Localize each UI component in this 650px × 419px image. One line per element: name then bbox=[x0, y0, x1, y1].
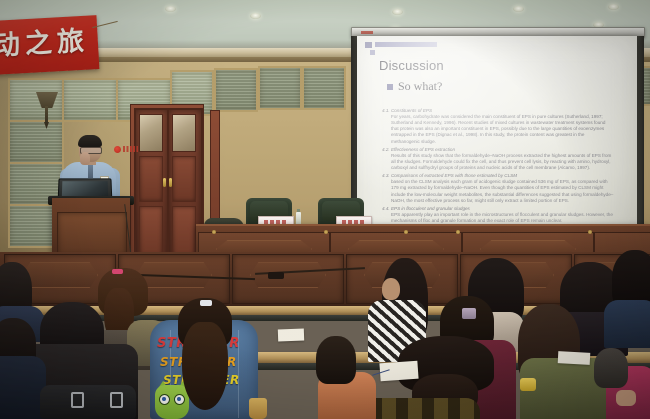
slide-decoration-bar bbox=[375, 42, 437, 47]
screen-edge-right bbox=[637, 36, 644, 241]
cat-eye-icon bbox=[174, 394, 185, 405]
audience-hand bbox=[616, 390, 636, 406]
wall-panel bbox=[62, 78, 118, 122]
hair-tie bbox=[200, 300, 212, 306]
slide-body: 4.1. Constituents of EPS For years, carb… bbox=[382, 106, 614, 224]
slide-decoration-square bbox=[365, 42, 372, 48]
audience-body bbox=[604, 300, 650, 348]
wall-logo bbox=[114, 145, 138, 154]
hair-clip bbox=[462, 308, 476, 319]
audience-hair bbox=[594, 348, 628, 388]
speaker-collar bbox=[88, 164, 93, 178]
table-stud bbox=[588, 230, 592, 234]
door-handle-icon[interactable] bbox=[163, 178, 166, 187]
table-stud bbox=[212, 230, 216, 234]
slide-bullet-text: So what? bbox=[398, 79, 442, 94]
door-panel bbox=[172, 206, 196, 256]
speaker-hand bbox=[80, 152, 90, 165]
downlight-icon bbox=[392, 9, 403, 15]
podium-front-panel bbox=[57, 212, 127, 256]
table-stud bbox=[324, 230, 328, 234]
wainscot-ornament bbox=[22, 262, 98, 288]
slide-section-body: Results of this study show that the form… bbox=[382, 153, 614, 171]
bag-buckle-icon bbox=[110, 392, 123, 408]
bag-buckle-icon bbox=[71, 392, 84, 408]
wall-sconce-stem bbox=[45, 106, 48, 124]
slide-section-body: based on the CLSM analysis each gram of … bbox=[382, 179, 614, 203]
banner-text: 动之旅 bbox=[0, 19, 99, 69]
notebook-page bbox=[278, 329, 304, 342]
door-panel bbox=[172, 156, 196, 202]
audience-hair bbox=[316, 336, 356, 384]
red-banner: 动之旅 bbox=[0, 15, 99, 75]
door-glass-pane bbox=[172, 114, 196, 152]
cable-connector bbox=[268, 272, 284, 279]
slide-section-body: EPS apparently play an important role in… bbox=[382, 212, 614, 224]
door-panel bbox=[139, 156, 163, 202]
wall-panel bbox=[302, 66, 346, 110]
screen-case-label bbox=[361, 31, 373, 34]
drink-cup bbox=[249, 398, 267, 419]
cat-pupil-icon bbox=[162, 397, 166, 401]
bullet-square-icon bbox=[387, 84, 393, 90]
hair-tie bbox=[520, 378, 536, 391]
door-glass-pane bbox=[139, 114, 163, 152]
presentation-slide: Discussion So what? 4.1. Constituents of… bbox=[357, 36, 637, 241]
downlight-icon bbox=[513, 6, 524, 12]
downlight-icon bbox=[250, 13, 261, 19]
cat-pupil-icon bbox=[177, 397, 181, 401]
table-stud bbox=[404, 230, 408, 234]
lecture-hall-photo: 动之旅 Discussion So what? 4.1. Constituent… bbox=[0, 0, 650, 419]
door-panel bbox=[139, 206, 163, 256]
table-stud bbox=[456, 230, 460, 234]
slide-section-body: For years, carbohydrate was considered t… bbox=[382, 114, 614, 144]
wall-panel bbox=[8, 120, 64, 164]
cat-eye-icon bbox=[159, 394, 170, 405]
door-frame-right bbox=[210, 110, 220, 232]
ponytail bbox=[182, 322, 228, 410]
logo-mark-icon bbox=[114, 146, 121, 153]
speaker-hair bbox=[78, 135, 102, 147]
logo-wordmark bbox=[123, 146, 138, 152]
hair-tie bbox=[112, 269, 123, 274]
downlight-icon bbox=[165, 6, 176, 12]
audience-head bbox=[382, 278, 400, 300]
notebook-page bbox=[558, 351, 591, 365]
slide-title: Discussion bbox=[379, 58, 444, 73]
downlight-icon bbox=[608, 4, 619, 10]
door-handle-icon[interactable] bbox=[169, 178, 172, 187]
slide-decoration-square-small bbox=[370, 50, 375, 55]
wall-panel bbox=[258, 66, 302, 110]
wall-panel bbox=[214, 68, 258, 112]
wainscot-ornament bbox=[250, 262, 326, 288]
slide-bullet-row: So what? bbox=[387, 79, 442, 94]
wall-panel bbox=[8, 78, 64, 122]
